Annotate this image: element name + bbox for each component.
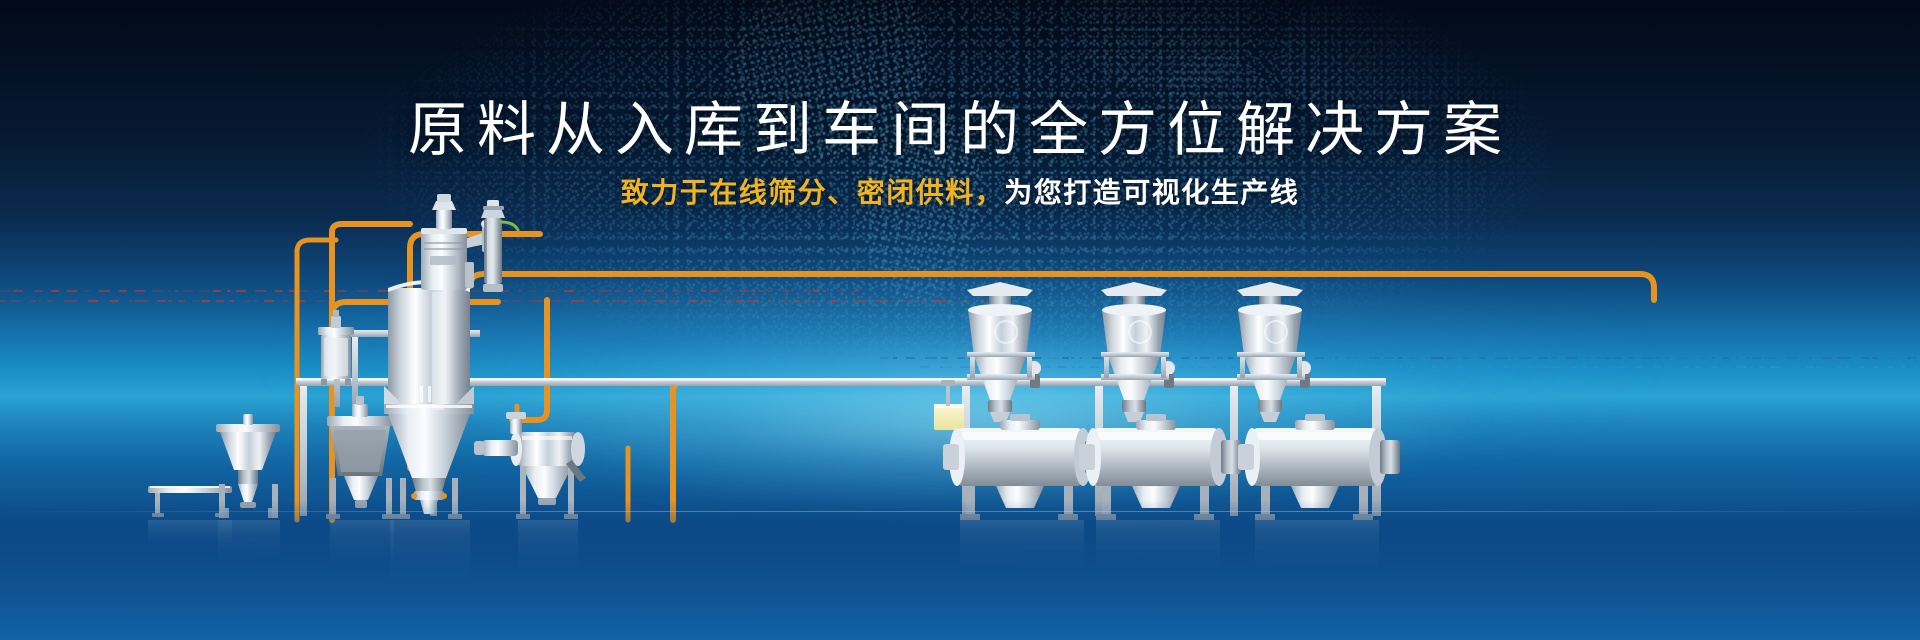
receiving-hopper-2 [1101,282,1175,422]
floor-reflections [148,520,1379,582]
main-storage-silo [384,280,474,519]
inline-vibrating-sieve [474,412,586,519]
control-cabinet [318,310,354,385]
page-subtitle: 致力于在线筛分、密闭供料，为您打造可视化生产线 [0,171,1920,211]
receiving-hopper-3 [967,282,1041,422]
page-title: 原料从入库到车间的全方位解决方案 [0,82,1920,167]
bag-dump-hopper [216,414,280,518]
receiving-hopper-1 [1237,282,1311,422]
bag-dump-station [326,396,396,519]
hero-banner: 原料从入库到车间的全方位解决方案 致力于在线筛分、密闭供料，为您打造可视化生产线 [0,0,1920,640]
vacuum-conveyor-filter [481,200,518,292]
floor-horizon-line [0,511,1920,512]
ribbon-mixer-2 [1079,414,1241,520]
operator-panel [934,380,964,430]
subtitle-rest: 为您打造可视化生产线 [1004,177,1299,208]
subtitle-highlight: 致力于在线筛分、密闭供料， [621,177,1005,208]
